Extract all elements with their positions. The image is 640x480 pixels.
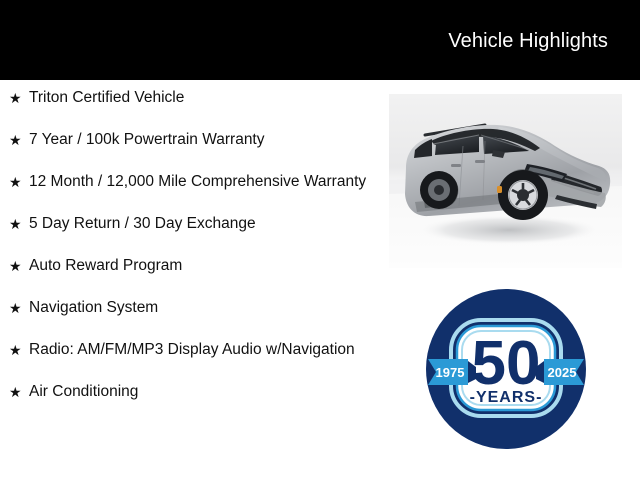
list-item: ★ Triton Certified Vehicle <box>0 86 380 110</box>
header-bar: Vehicle Highlights <box>0 0 640 80</box>
year-start-label: 1975 <box>436 365 465 380</box>
year-end-label: 2025 <box>548 365 577 380</box>
list-item-label: 12 Month / 12,000 Mile Comprehensive War… <box>29 170 370 194</box>
badge-number: 50 <box>472 329 541 398</box>
list-item-label: 5 Day Return / 30 Day Exchange <box>29 212 370 236</box>
year-start-ribbon: 1975 <box>428 359 476 385</box>
star-icon: ★ <box>9 212 22 236</box>
star-icon: ★ <box>9 296 22 320</box>
badge-caption: -YEARS- <box>470 389 543 406</box>
page-title: Vehicle Highlights <box>448 29 608 53</box>
star-icon: ★ <box>9 128 22 152</box>
star-icon: ★ <box>9 86 22 110</box>
list-item: ★ Navigation System <box>0 296 380 320</box>
star-icon: ★ <box>9 254 22 278</box>
star-icon: ★ <box>9 170 22 194</box>
anniversary-badge: 1975 2025 50 -YEARS- <box>424 287 588 451</box>
list-item: ★ 12 Month / 12,000 Mile Comprehensive W… <box>0 170 380 194</box>
list-item-label: Radio: AM/FM/MP3 Display Audio w/Navigat… <box>29 338 370 362</box>
list-item-label: Auto Reward Program <box>29 254 370 278</box>
star-icon: ★ <box>9 380 22 404</box>
list-item-label: Triton Certified Vehicle <box>29 86 370 110</box>
list-item: ★ Radio: AM/FM/MP3 Display Audio w/Navig… <box>0 338 380 362</box>
content-area: ★ Triton Certified Vehicle ★ 7 Year / 10… <box>0 80 640 480</box>
vehicle-highlights-list: ★ Triton Certified Vehicle ★ 7 Year / 10… <box>0 86 380 422</box>
list-item: ★ Auto Reward Program <box>0 254 380 278</box>
list-item-label: Air Conditioning <box>29 380 370 404</box>
vehicle-photo <box>389 94 622 268</box>
star-icon: ★ <box>9 338 22 362</box>
list-item-label: Navigation System <box>29 296 370 320</box>
list-item: ★ Air Conditioning <box>0 380 380 404</box>
list-item: ★ 5 Day Return / 30 Day Exchange <box>0 212 380 236</box>
list-item: ★ 7 Year / 100k Powertrain Warranty <box>0 128 380 152</box>
list-item-label: 7 Year / 100k Powertrain Warranty <box>29 128 370 152</box>
